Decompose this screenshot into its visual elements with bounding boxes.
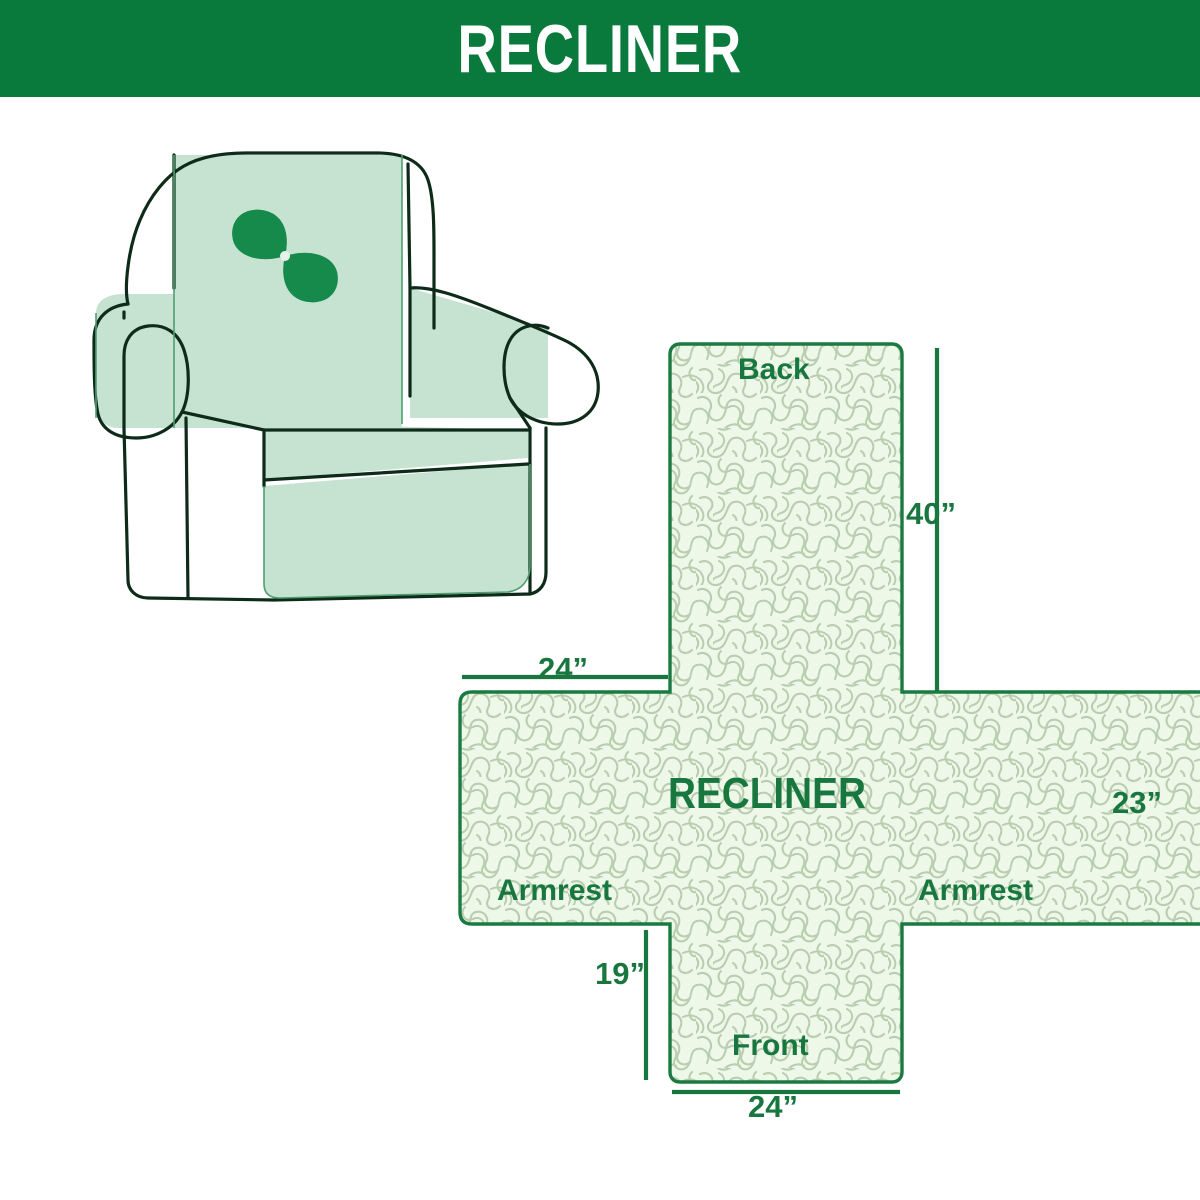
dimension-label-armrest-width: 24” [538, 653, 588, 684]
recliner-cover-pattern-diagram [440, 300, 1200, 1140]
page-title: RECLINER [458, 15, 742, 83]
dimension-label-front-width: 24” [748, 1091, 798, 1122]
pattern-shape [440, 300, 1200, 1140]
panel-label-armrest-right: Armrest [918, 876, 1033, 906]
dimension-label-back-height: 40” [906, 498, 956, 529]
dimension-label-seat-depth: 23” [1112, 787, 1162, 818]
header-banner: RECLINER [0, 0, 1200, 97]
recliner-size-guide-page: RECLINER [0, 0, 1200, 1200]
dimension-label-front-height: 19” [595, 958, 645, 989]
panel-label-front: Front [732, 1031, 809, 1061]
panel-label-back: Back [738, 355, 810, 385]
panel-label-center: RECLINER [668, 772, 866, 816]
panel-label-armrest-left: Armrest [497, 876, 612, 906]
